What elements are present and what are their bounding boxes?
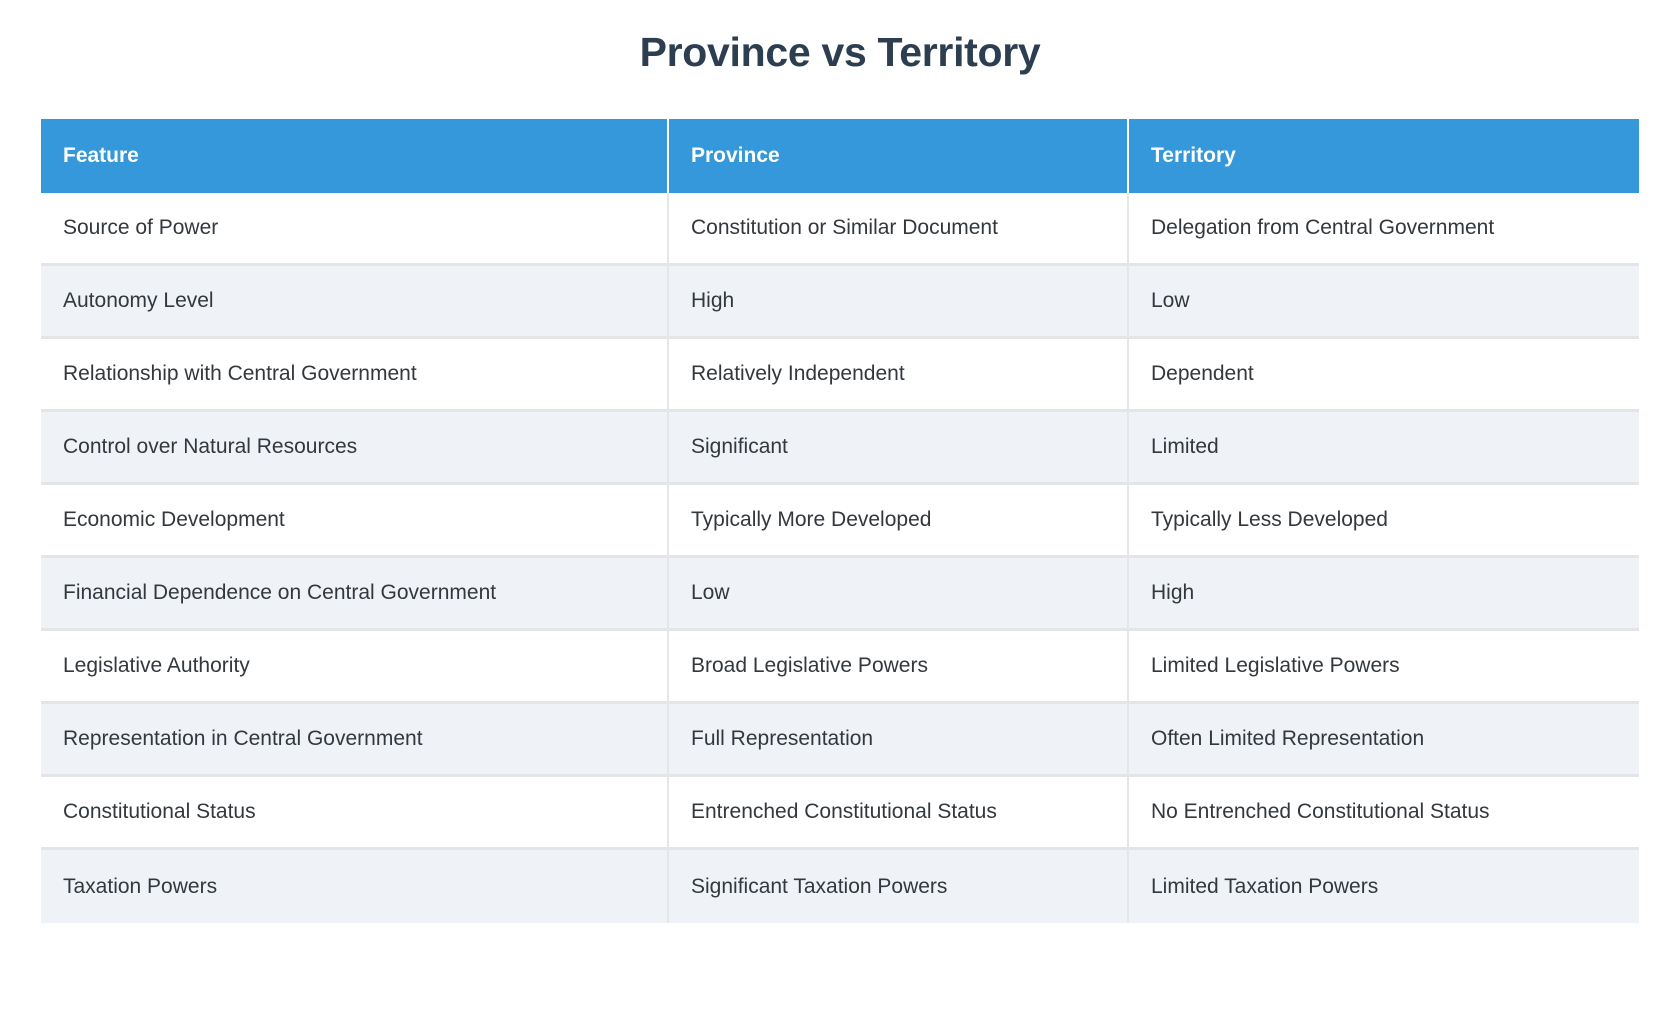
cell-territory: Limited	[1129, 412, 1639, 485]
cell-feature: Control over Natural Resources	[41, 412, 669, 485]
cell-province: High	[669, 266, 1129, 339]
cell-territory: Limited Legislative Powers	[1129, 631, 1639, 704]
cell-territory: No Entrenched Constitutional Status	[1129, 777, 1639, 850]
cell-feature: Representation in Central Government	[41, 704, 669, 777]
table-row: Taxation PowersSignificant Taxation Powe…	[41, 850, 1639, 923]
cell-province: Significant	[669, 412, 1129, 485]
cell-territory: Delegation from Central Government	[1129, 193, 1639, 266]
table-header-row: Feature Province Territory	[41, 119, 1639, 193]
table-body: Source of PowerConstitution or Similar D…	[41, 193, 1639, 923]
column-header-province[interactable]: Province	[669, 119, 1129, 193]
cell-feature: Relationship with Central Government	[41, 339, 669, 412]
cell-province: Relatively Independent	[669, 339, 1129, 412]
cell-province: Broad Legislative Powers	[669, 631, 1129, 704]
table-row: Legislative AuthorityBroad Legislative P…	[41, 631, 1639, 704]
page-title: Province vs Territory	[0, 0, 1680, 75]
cell-feature: Constitutional Status	[41, 777, 669, 850]
cell-territory: Dependent	[1129, 339, 1639, 412]
column-header-territory[interactable]: Territory	[1129, 119, 1639, 193]
cell-feature: Financial Dependence on Central Governme…	[41, 558, 669, 631]
cell-feature: Economic Development	[41, 485, 669, 558]
cell-territory: Limited Taxation Powers	[1129, 850, 1639, 923]
cell-province: Significant Taxation Powers	[669, 850, 1129, 923]
table-row: Constitutional StatusEntrenched Constitu…	[41, 777, 1639, 850]
table-row: Autonomy LevelHighLow	[41, 266, 1639, 339]
cell-feature: Taxation Powers	[41, 850, 669, 923]
cell-feature: Legislative Authority	[41, 631, 669, 704]
cell-province: Full Representation	[669, 704, 1129, 777]
table-row: Control over Natural ResourcesSignifican…	[41, 412, 1639, 485]
cell-feature: Autonomy Level	[41, 266, 669, 339]
table-row: Economic DevelopmentTypically More Devel…	[41, 485, 1639, 558]
cell-province: Constitution or Similar Document	[669, 193, 1129, 266]
table-row: Financial Dependence on Central Governme…	[41, 558, 1639, 631]
comparison-page: Province vs Territory Feature Province T…	[0, 0, 1680, 1018]
comparison-table: Feature Province Territory Source of Pow…	[41, 119, 1639, 923]
comparison-table-container: Feature Province Territory Source of Pow…	[41, 119, 1639, 923]
cell-territory: Typically Less Developed	[1129, 485, 1639, 558]
cell-province: Typically More Developed	[669, 485, 1129, 558]
cell-territory: Low	[1129, 266, 1639, 339]
cell-province: Entrenched Constitutional Status	[669, 777, 1129, 850]
table-header: Feature Province Territory	[41, 119, 1639, 193]
table-row: Representation in Central GovernmentFull…	[41, 704, 1639, 777]
cell-province: Low	[669, 558, 1129, 631]
cell-territory: High	[1129, 558, 1639, 631]
table-row: Source of PowerConstitution or Similar D…	[41, 193, 1639, 266]
table-row: Relationship with Central GovernmentRela…	[41, 339, 1639, 412]
cell-feature: Source of Power	[41, 193, 669, 266]
cell-territory: Often Limited Representation	[1129, 704, 1639, 777]
column-header-feature[interactable]: Feature	[41, 119, 669, 193]
